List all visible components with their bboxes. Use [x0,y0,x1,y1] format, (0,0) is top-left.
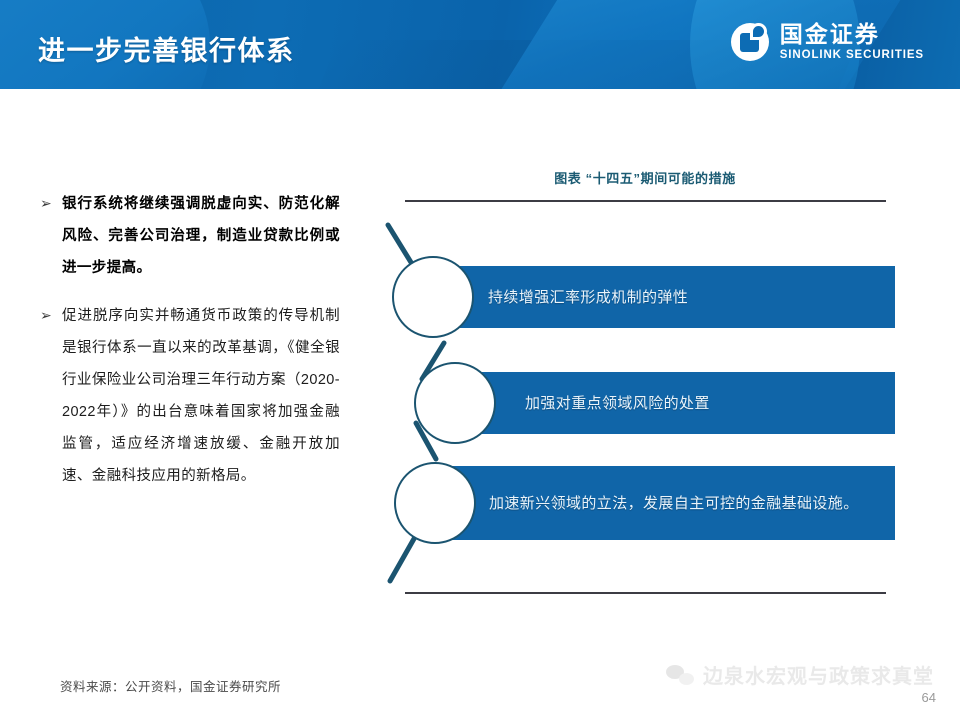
brand-name-en: SINOLINK SECURITIES [780,50,924,62]
bullet-list: ➢ 银行系统将继续强调脱虚向实、防范化解风险、完善公司治理，制造业贷款比例或进一… [40,188,340,508]
watermark-text: 边泉水宏观与政策求真堂 [703,660,934,689]
source-note: 资料来源：公开资料，国金证券研究所 [60,676,281,695]
watermark: 边泉水宏观与政策求真堂 [666,660,934,689]
measure-label-2: 加强对重点领域风险的处置 [465,391,724,416]
brand-logo: 国金证券 SINOLINK SECURITIES [731,23,924,62]
bullet-arrow-icon: ➢ [40,300,62,330]
measure-label-1: 持续增强汇率形成机制的弹性 [440,285,702,310]
measure-label-3: 加速新兴领域的立法，发展自主可控的金融基础设施。 [445,491,873,516]
measure-circle-2 [414,362,496,444]
sinolink-logo-icon [731,23,769,61]
measure-bar-2[interactable]: 加强对重点领域风险的处置 [465,372,895,434]
measure-bar-3[interactable]: 加速新兴领域的立法，发展自主可控的金融基础设施。 [445,466,895,540]
page-number: 64 [922,690,936,705]
bullet-arrow-icon: ➢ [40,188,62,218]
wechat-icon [666,665,694,685]
measure-bar-1[interactable]: 持续增强汇率形成机制的弹性 [440,266,895,328]
exhibit-top-rule [405,200,886,202]
measure-circle-3 [394,462,476,544]
bullet-text: 银行系统将继续强调脱虚向实、防范化解风险、完善公司治理，制造业贷款比例或进一步提… [62,188,340,284]
bullet-item: ➢ 银行系统将继续强调脱虚向实、防范化解风险、完善公司治理，制造业贷款比例或进一… [40,188,340,284]
slide-header: 进一步完善银行体系 国金证券 SINOLINK SECURITIES [0,0,960,89]
exhibit-title: 图表 “十四五”期间可能的措施 [405,168,885,187]
measure-circle-1 [392,256,474,338]
page-title: 进一步完善银行体系 [38,29,295,68]
brand-name-cn: 国金证券 [780,23,924,46]
brand-logo-text: 国金证券 SINOLINK SECURITIES [780,23,924,62]
bullet-item: ➢ 促进脱序向实并畅通货币政策的传导机制是银行体系一直以来的改革基调，《健全银行… [40,300,340,492]
bullet-text: 促进脱序向实并畅通货币政策的传导机制是银行体系一直以来的改革基调，《健全银行业保… [62,300,340,492]
